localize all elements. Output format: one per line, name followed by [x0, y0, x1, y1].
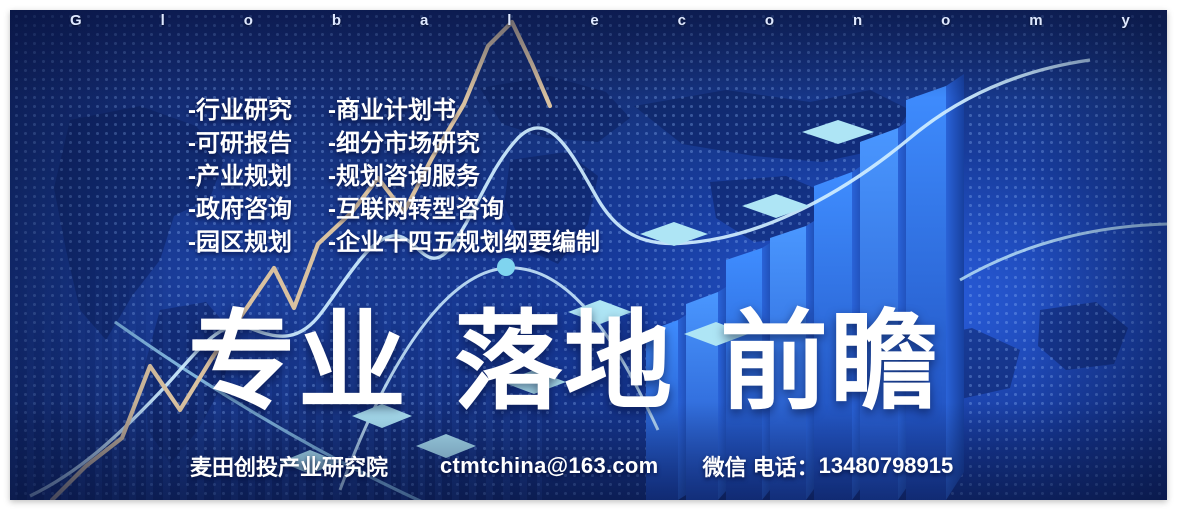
kicker-letter: o — [765, 12, 774, 29]
kicker-letter: o — [244, 12, 253, 29]
kicker-letter: y — [1122, 12, 1130, 29]
kicker-letter: e — [590, 12, 598, 29]
service-item: -细分市场研究 — [328, 129, 600, 159]
kicker-letter: G — [70, 12, 82, 29]
kicker-letter: c — [678, 12, 686, 29]
bar-7 — [906, 74, 964, 500]
service-item: -可研报告 — [188, 129, 292, 159]
promo-banner: G l o b a l e c o n o m y -行业研究 -可研报告 -产… — [10, 10, 1167, 500]
service-item: -规划咨询服务 — [328, 162, 600, 192]
service-item: -商业计划书 — [328, 96, 600, 126]
contact-label: 微信 电话： — [703, 450, 819, 482]
service-item: -政府咨询 — [188, 195, 292, 225]
headline: 专业 落地 前瞻 — [188, 306, 940, 418]
diamond-marker — [742, 194, 810, 218]
top-right-arc — [960, 224, 1167, 280]
service-item: -园区规划 — [188, 228, 292, 258]
service-column-left: -行业研究 -可研报告 -产业规划 -政府咨询 -园区规划 — [188, 96, 292, 261]
organization-name: 麦田创投产业研究院 — [190, 450, 388, 482]
service-item: -企业十四五规划纲要编制 — [328, 228, 600, 258]
kicker-letter: l — [161, 12, 165, 29]
kicker-letter: n — [853, 12, 862, 29]
kicker-letter: b — [332, 12, 341, 29]
service-lists: -行业研究 -可研报告 -产业规划 -政府咨询 -园区规划 -商业计划书 -细分… — [188, 96, 600, 261]
kicker-letter: l — [507, 12, 511, 29]
contact-phone[interactable]: 13480798915 — [819, 453, 954, 479]
kicker-letter: m — [1029, 12, 1042, 29]
kicker-letter: a — [420, 12, 428, 29]
service-item: -产业规划 — [188, 162, 292, 192]
diamond-marker — [802, 120, 874, 144]
service-item: -互联网转型咨询 — [328, 195, 600, 225]
contact-email[interactable]: ctmtchina@163.com — [440, 453, 659, 479]
kicker-letter: o — [941, 12, 950, 29]
service-item: -行业研究 — [188, 96, 292, 126]
footer-contact-bar: 麦田创投产业研究院 ctmtchina@163.com 微信 电话： 13480… — [190, 450, 953, 482]
headline-word: 前瞻 — [720, 306, 940, 418]
kicker-global-economy: G l o b a l e c o n o m y — [70, 12, 1130, 29]
gold-trend-line — [52, 22, 550, 500]
bar-group — [646, 74, 964, 500]
headline-word: 落地 — [454, 306, 674, 418]
headline-word: 专业 — [188, 306, 408, 418]
service-column-right: -商业计划书 -细分市场研究 -规划咨询服务 -互联网转型咨询 -企业十四五规划… — [328, 96, 600, 261]
